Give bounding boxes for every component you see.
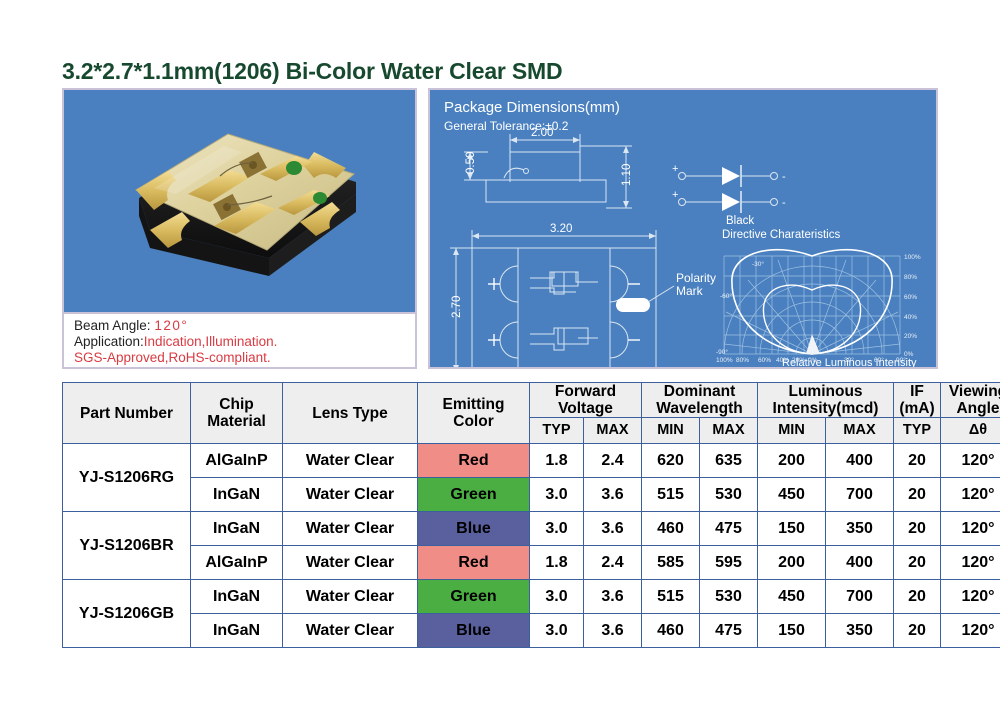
th-emit-l1: Emitting [418, 396, 529, 413]
th-lens-type: Lens Type [283, 383, 418, 444]
th-chip-l2: Material [191, 413, 282, 430]
cell-emitting-color: Blue [418, 614, 530, 648]
polar-xtick-100: 100% [716, 357, 733, 364]
cell-viewing-angle: 120° [941, 580, 1000, 614]
polar-angle-90: 90° [896, 356, 906, 364]
cell-vf-typ: 3.0 [530, 614, 584, 648]
th-emit-l2: Color [418, 413, 529, 430]
cell-chip-material: InGaN [191, 512, 283, 546]
cell-lens-type: Water Clear [283, 614, 418, 648]
th-vf-typ: TYP [530, 418, 584, 444]
th-va-l2: Angle [941, 400, 1000, 417]
cell-viewing-angle: 120° [941, 546, 1000, 580]
cell-iv-max: 400 [826, 546, 894, 580]
th-dw-l2: Wavelength [642, 400, 757, 417]
dim-2-00: 2.00 [531, 127, 553, 139]
beam-angle-label: Beam Angle: [74, 318, 151, 333]
cell-iv-min: 150 [758, 614, 826, 648]
cell-iv-max: 700 [826, 580, 894, 614]
cell-wl-max: 475 [700, 614, 758, 648]
cell-iv-max: 700 [826, 478, 894, 512]
diagram-heading: Package Dimensions(mm) [444, 99, 620, 116]
table-row: AlGaInPWater ClearRed1.82.45855952004002… [63, 546, 1000, 580]
application-value: Indication,Illumination. [144, 334, 278, 349]
cell-vf-typ: 1.8 [530, 546, 584, 580]
cell-chip-material: InGaN [191, 478, 283, 512]
th-if-l2: (mA) [894, 400, 940, 417]
polar-xtick-40: 40% [776, 357, 789, 364]
polar-ytick-40: 40% [904, 314, 917, 321]
th-dominant-wavelength: Dominant Wavelength [642, 383, 758, 418]
cell-iv-min: 450 [758, 478, 826, 512]
th-li-l2: Intensity(mcd) [758, 400, 893, 417]
polar-angle-neg30: -30° [752, 260, 764, 268]
polar-angle-30: 30° [844, 356, 854, 364]
cell-wl-max: 530 [700, 580, 758, 614]
cell-wl-max: 530 [700, 478, 758, 512]
cell-emitting-color: Blue [418, 512, 530, 546]
cell-lens-type: Water Clear [283, 512, 418, 546]
th-if: IF (mA) [894, 383, 941, 418]
cell-viewing-angle: 120° [941, 512, 1000, 546]
cell-wl-min: 585 [642, 546, 700, 580]
cell-lens-type: Water Clear [283, 444, 418, 478]
cell-lens-type: Water Clear [283, 580, 418, 614]
cell-lens-type: Water Clear [283, 546, 418, 580]
th-vf-max: MAX [584, 418, 642, 444]
cell-wl-max: 635 [700, 444, 758, 478]
polar-ytick-20: 20% [904, 333, 917, 340]
cell-wl-min: 620 [642, 444, 700, 478]
led-photo [64, 90, 415, 312]
table-header-row-top: Part Number Chip Material Lens Type Emit… [63, 383, 1000, 418]
beam-angle-value: 120° [154, 318, 188, 333]
polar-angle-neg90: -90° [716, 348, 728, 356]
application-line: Application:Indication,Illumination. [74, 334, 415, 350]
dim-0-50: 0.50 [465, 152, 477, 174]
cell-viewing-angle: 120° [941, 444, 1000, 478]
cell-iv-min: 200 [758, 444, 826, 478]
polar-xtick-80: 80% [736, 357, 749, 364]
th-fv-l1: Forward [530, 383, 641, 400]
th-wl-max: MAX [700, 418, 758, 444]
plus-sign-2: + [672, 189, 678, 201]
cell-wl-min: 460 [642, 614, 700, 648]
th-va-l1: Viewing [941, 383, 1000, 400]
polar-ytick-100: 100% [904, 254, 921, 261]
th-chip-l1: Chip [191, 396, 282, 413]
polar-xtick-0: 0% [808, 357, 818, 364]
cell-iv-max: 400 [826, 444, 894, 478]
th-if-typ: TYP [894, 418, 941, 444]
th-forward-voltage: Forward Voltage [530, 383, 642, 418]
cell-wl-max: 595 [700, 546, 758, 580]
minus-sign-2: - [782, 197, 786, 209]
cell-vf-max: 3.6 [584, 512, 642, 546]
th-emitting-color: Emitting Color [418, 383, 530, 444]
cell-vf-max: 3.6 [584, 478, 642, 512]
cell-if-typ: 20 [894, 614, 941, 648]
dim-3-20: 3.20 [550, 223, 572, 235]
cell-if-typ: 20 [894, 478, 941, 512]
cell-chip-material: AlGaInP [191, 546, 283, 580]
page-title: 3.2*2.7*1.1mm(1206) Bi-Color Water Clear… [62, 58, 562, 85]
th-luminous-intensity: Luminous Intensity(mcd) [758, 383, 894, 418]
table-row: InGaNWater ClearGreen3.03.65155304507002… [63, 478, 1000, 512]
polar-chart-title: Directive Charateristics [722, 229, 840, 241]
cell-vf-typ: 3.0 [530, 478, 584, 512]
th-part-number: Part Number [63, 383, 191, 444]
minus-sign-1: - [782, 171, 786, 183]
black-label: Black [726, 215, 754, 227]
cell-if-typ: 20 [894, 546, 941, 580]
th-iv-max: MAX [826, 418, 894, 444]
cell-vf-max: 2.4 [584, 546, 642, 580]
polarity-mark-label-2: Mark [676, 284, 704, 298]
th-wl-min: MIN [642, 418, 700, 444]
cell-chip-material: InGaN [191, 580, 283, 614]
cell-wl-max: 475 [700, 512, 758, 546]
datasheet-page: 3.2*2.7*1.1mm(1206) Bi-Color Water Clear… [0, 0, 1000, 720]
cell-emitting-color: Red [418, 444, 530, 478]
cell-wl-min: 515 [642, 580, 700, 614]
cell-iv-min: 450 [758, 580, 826, 614]
cell-iv-min: 200 [758, 546, 826, 580]
cell-if-typ: 20 [894, 444, 941, 478]
cell-chip-material: InGaN [191, 614, 283, 648]
package-dimensions-diagram: Package Dimensions(mm) General Tolerance… [430, 90, 936, 367]
polarity-mark-label-1: Polarity [676, 271, 716, 285]
cell-vf-typ: 3.0 [530, 580, 584, 614]
caption-box: Beam Angle: 120° Application:Indication,… [62, 314, 417, 369]
cell-part-number: YJ-S1206GB [63, 580, 191, 648]
th-fv-l2: Voltage [530, 400, 641, 417]
led-package-illustration [64, 90, 415, 312]
cell-viewing-angle: 120° [941, 614, 1000, 648]
dim-2-70: 2.70 [451, 296, 463, 318]
polar-angle-60: 60° [874, 356, 884, 364]
polar-xtick-60: 60% [758, 357, 771, 364]
cell-iv-max: 350 [826, 614, 894, 648]
th-li-l1: Luminous [758, 383, 893, 400]
th-if-l1: IF [894, 383, 940, 400]
table-row: InGaNWater ClearBlue3.03.646047515035020… [63, 614, 1000, 648]
cell-iv-min: 150 [758, 512, 826, 546]
th-dw-l1: Dominant [642, 383, 757, 400]
table-row: YJ-S1206BRInGaNWater ClearBlue3.03.64604… [63, 512, 1000, 546]
polar-ytick-80: 80% [904, 274, 917, 281]
cell-vf-typ: 1.8 [530, 444, 584, 478]
table-row: YJ-S1206RGAlGaInPWater ClearRed1.82.4620… [63, 444, 1000, 478]
polar-xtick-20: 20% [792, 357, 805, 364]
cell-vf-max: 2.4 [584, 444, 642, 478]
table-body: YJ-S1206RGAlGaInPWater ClearRed1.82.4620… [63, 444, 1000, 648]
application-label: Application: [74, 334, 144, 349]
plus-sign-1: + [672, 163, 678, 175]
cell-lens-type: Water Clear [283, 478, 418, 512]
dim-1-10: 1.10 [621, 164, 633, 186]
cell-if-typ: 20 [894, 512, 941, 546]
table-row: YJ-S1206GBInGaNWater ClearGreen3.03.6515… [63, 580, 1000, 614]
cell-vf-max: 3.6 [584, 614, 642, 648]
polar-ytick-60: 60% [904, 294, 917, 301]
cell-iv-max: 350 [826, 512, 894, 546]
cell-wl-min: 460 [642, 512, 700, 546]
cell-viewing-angle: 120° [941, 478, 1000, 512]
cell-emitting-color: Green [418, 580, 530, 614]
cell-chip-material: AlGaInP [191, 444, 283, 478]
cell-part-number: YJ-S1206RG [63, 444, 191, 512]
package-dimensions-panel: Package Dimensions(mm) General Tolerance… [428, 88, 938, 369]
th-iv-min: MIN [758, 418, 826, 444]
cell-vf-typ: 3.0 [530, 512, 584, 546]
specification-table: Part Number Chip Material Lens Type Emit… [62, 382, 1000, 648]
th-delta-theta: Δθ [941, 418, 1000, 444]
cell-emitting-color: Red [418, 546, 530, 580]
product-photo-panel [62, 88, 417, 314]
cell-if-typ: 20 [894, 580, 941, 614]
cell-emitting-color: Green [418, 478, 530, 512]
cell-wl-min: 515 [642, 478, 700, 512]
compliance-line: SGS-Approved,RoHS-compliant. [74, 350, 415, 366]
polar-angle-neg60: -60° [720, 292, 732, 300]
th-chip-material: Chip Material [191, 383, 283, 444]
cell-part-number: YJ-S1206BR [63, 512, 191, 580]
cell-vf-max: 3.6 [584, 580, 642, 614]
beam-angle-line: Beam Angle: 120° [74, 318, 415, 334]
th-viewing-angle: Viewing Angle [941, 383, 1000, 418]
